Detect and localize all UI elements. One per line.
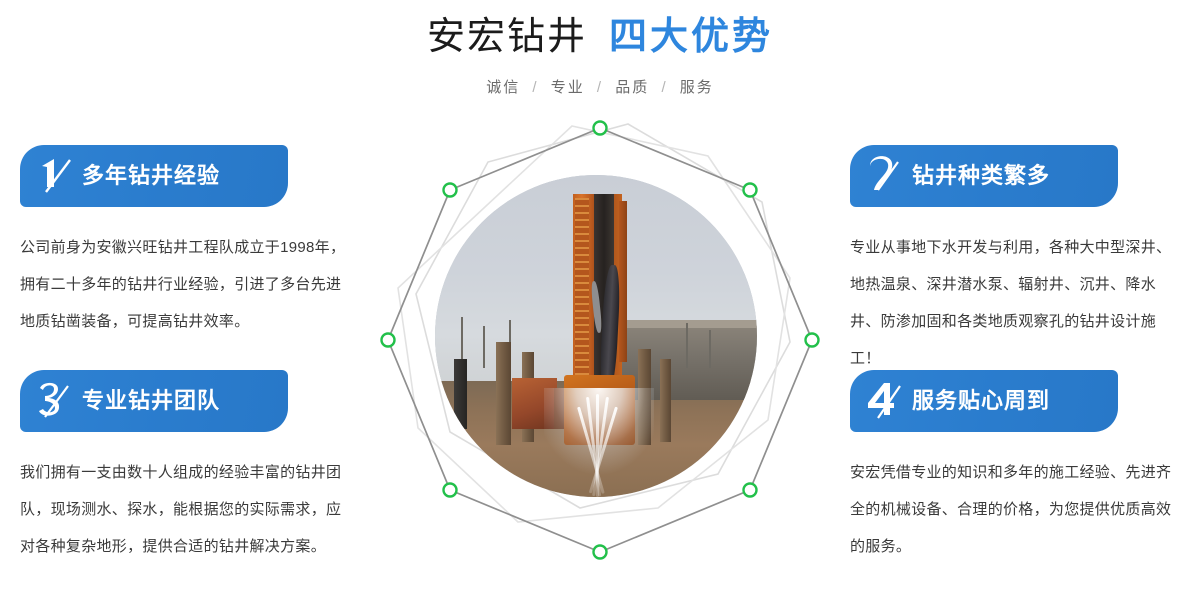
subtitle-item-1: 专业 xyxy=(551,79,585,96)
feature-title-4: 服务贴心周到 xyxy=(912,390,1050,412)
photo-tree xyxy=(686,323,688,368)
photo-tree xyxy=(483,326,485,368)
feature-card-3: 专业钻井团队 我们拥有一支由数十人组成的经验丰富的钻井团队，现场测水、探水，能根… xyxy=(20,370,350,565)
feature-card-4: 服务贴心周到 安宏凭借专业的知识和多年的施工经验、先进齐全的机械设备、合理的价格… xyxy=(850,370,1180,565)
page-header: 安宏钻井四大优势 诚信 / 专业 / 品质 / 服务 xyxy=(0,0,1200,97)
photo-rig-leg xyxy=(496,342,510,445)
subtitle-item-2: 品质 xyxy=(615,79,649,96)
photo-rig-leg xyxy=(454,359,467,430)
photo-tree xyxy=(709,330,711,369)
vertex-dot-bottom xyxy=(594,546,607,559)
subtitle-item-0: 诚信 xyxy=(486,79,520,96)
feature-badge-3: 专业钻井团队 xyxy=(20,370,288,432)
feature-title-2: 钻井种类繁多 xyxy=(912,165,1050,187)
page-title-main: 安宏钻井 xyxy=(427,16,587,58)
numeral-2-slash-icon xyxy=(864,154,906,198)
numeral-1-slash-icon xyxy=(34,154,76,198)
numeral-4-slash-icon xyxy=(864,379,906,423)
feature-body-3: 我们拥有一支由数十人组成的经验丰富的钻井团队，现场测水、探水，能根据您的实际需求… xyxy=(20,432,350,565)
feature-title-1: 多年钻井经验 xyxy=(82,165,220,187)
header-subtitle: 诚信 / 专业 / 品质 / 服务 xyxy=(0,56,1200,97)
feature-body-4: 安宏凭借专业的知识和多年的施工经验、先进齐全的机械设备、合理的价格，为您提供优质… xyxy=(850,432,1180,565)
numeral-3-slash-icon xyxy=(34,379,76,423)
subtitle-separator-2: / xyxy=(661,79,667,96)
photo-rig-ladder xyxy=(575,198,589,391)
vertex-dot-top xyxy=(594,122,607,135)
feature-badge-4: 服务贴心周到 xyxy=(850,370,1118,432)
vertex-dot-left xyxy=(382,334,395,347)
feature-card-1: 多年钻井经验 公司前身为安徽兴旺钻井工程队成立于1998年，拥有二十多年的钻井行… xyxy=(20,145,350,340)
feature-title-3: 专业钻井团队 xyxy=(82,390,220,412)
feature-badge-1: 多年钻井经验 xyxy=(20,145,288,207)
page-root: 安宏钻井四大优势 诚信 / 专业 / 品质 / 服务 xyxy=(0,0,1200,600)
vertex-dot-right xyxy=(806,334,819,347)
feature-body-1: 公司前身为安徽兴旺钻井工程队成立于1998年，拥有二十多年的钻井行业经验，引进了… xyxy=(20,207,350,340)
page-title-accent: 四大优势 xyxy=(609,16,773,58)
page-title: 安宏钻井四大优势 xyxy=(0,0,1200,56)
subtitle-separator-1: / xyxy=(597,79,603,96)
drilling-rig-photo xyxy=(435,175,757,497)
subtitle-item-3: 服务 xyxy=(680,79,714,96)
feature-badge-2: 钻井种类繁多 xyxy=(850,145,1118,207)
photo-rig-mast-rail xyxy=(619,201,627,362)
subtitle-separator-0: / xyxy=(532,79,538,96)
feature-card-2: 钻井种类繁多 专业从事地下水开发与利用，各种大中型深井、地热温泉、深井潜水泵、辐… xyxy=(850,145,1180,377)
photo-rig-leg xyxy=(660,359,671,443)
feature-body-2: 专业从事地下水开发与利用，各种大中型深井、地热温泉、深井潜水泵、辐射井、沉井、降… xyxy=(850,207,1180,377)
